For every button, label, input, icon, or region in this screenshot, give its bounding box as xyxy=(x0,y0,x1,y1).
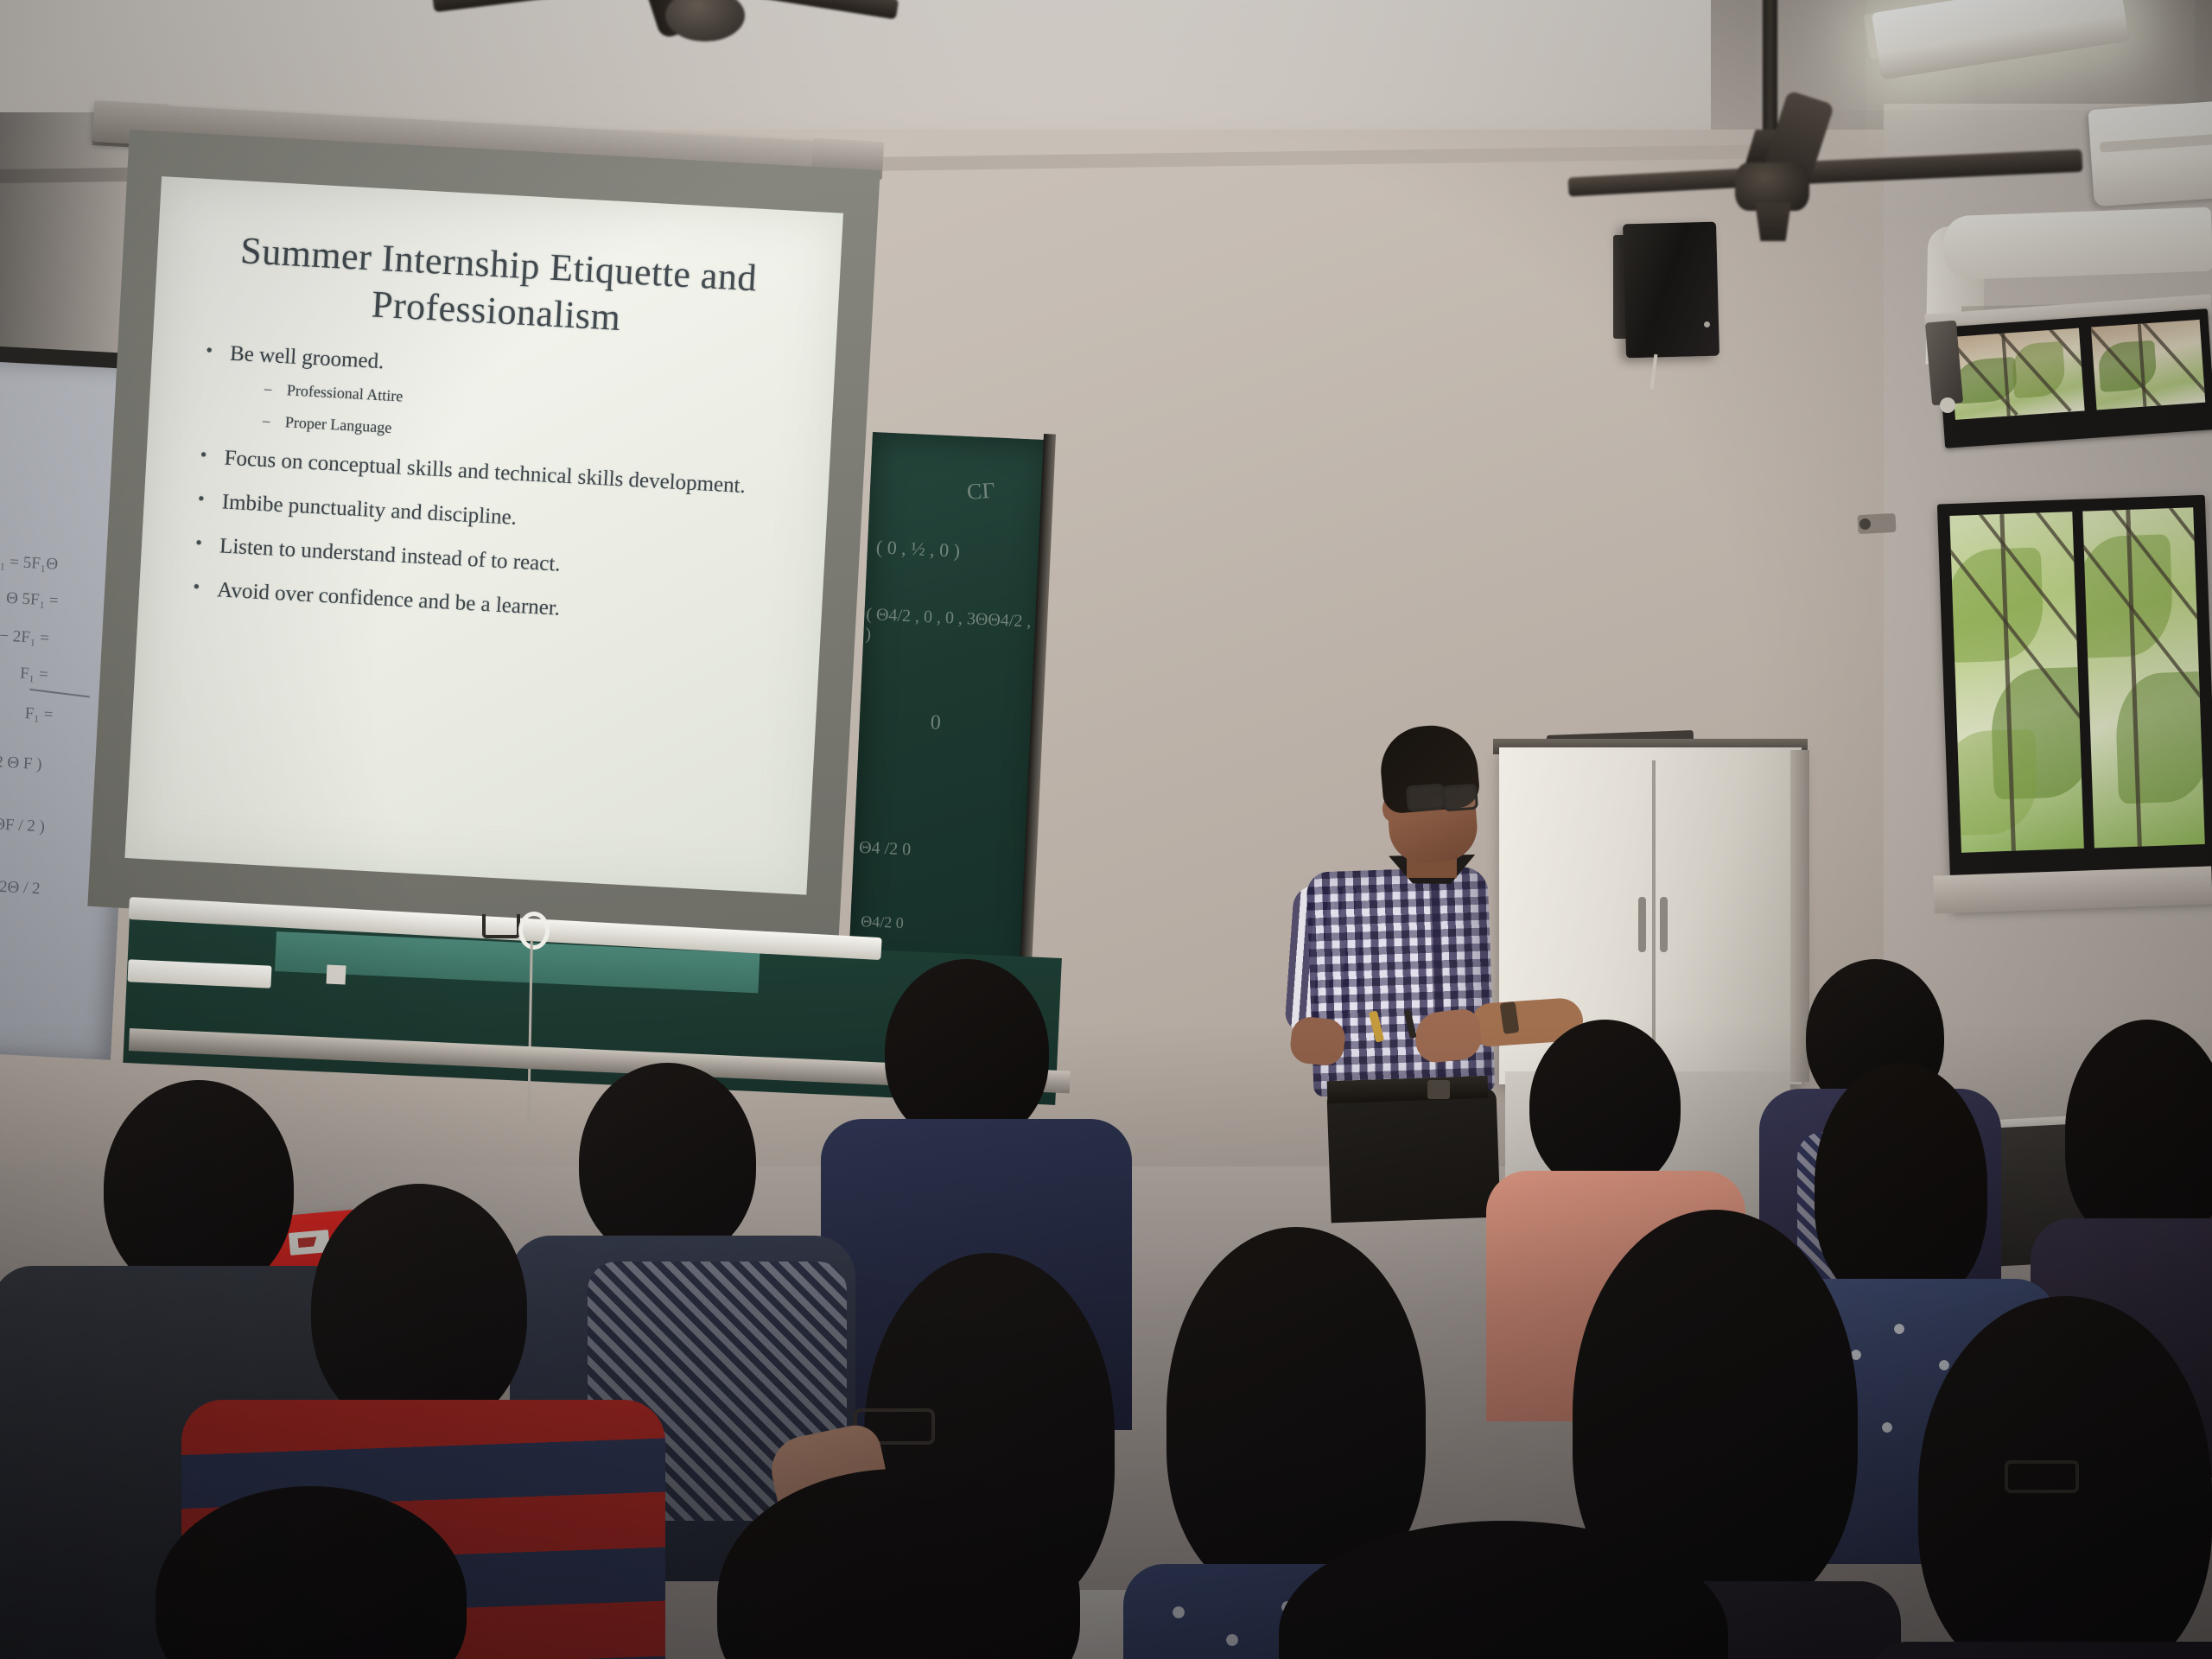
chalkboard-line: ( Θ4/2 , 0 , 0 , 3ΘΘ4/2 , 0 ) xyxy=(865,605,1046,652)
ac-duct-horizontal xyxy=(1943,207,2212,281)
presenter-forearm xyxy=(1288,1015,1346,1067)
fan-hub xyxy=(665,0,745,41)
audience-head xyxy=(579,1063,756,1262)
audience-head xyxy=(311,1184,527,1434)
slide-bullet-list: Be well groomed. Professional Attire Pro… xyxy=(139,338,835,635)
slide-content: Summer Internship Etiquette and Professi… xyxy=(124,176,843,895)
main-window xyxy=(1937,495,2212,911)
fan-blade xyxy=(1797,149,2083,184)
slide-title: Summer Internship Etiquette and Professi… xyxy=(154,176,843,353)
presenter-trousers xyxy=(1326,1088,1500,1224)
chalkboard-line: CΓ xyxy=(966,478,995,505)
presenter-glasses xyxy=(1406,784,1446,812)
chalk-piece[interactable] xyxy=(327,965,346,985)
fan-rod xyxy=(1763,0,1777,137)
speaker-led xyxy=(1704,321,1710,327)
projector-screen: Summer Internship Etiquette and Professi… xyxy=(87,130,880,947)
audience-hair xyxy=(1815,1063,1987,1305)
audience-glasses xyxy=(2005,1460,2079,1493)
fan-boss xyxy=(1751,203,1796,241)
screen-hook-icon[interactable] xyxy=(482,914,520,938)
whiteboard-line: F₁ = xyxy=(24,704,54,725)
wall-speaker-icon xyxy=(1623,222,1719,359)
whiteboard-line: × ( 22 ΘF / 2 ) xyxy=(0,813,45,837)
screen-pull-ring[interactable] xyxy=(518,912,550,950)
whiteboard-line: 3F₁ = 5F₁Θ xyxy=(0,551,59,575)
projection-surface: Summer Internship Etiquette and Professi… xyxy=(124,176,843,895)
whiteboard-line: 3F₁ Θ 5F₁ = xyxy=(0,588,59,611)
chalkboard-line: 0 xyxy=(930,711,941,735)
slide-bullet: Be well groomed. Professional Attire Pro… xyxy=(200,340,809,459)
window-pane xyxy=(1949,512,2084,853)
slide-sub-list: Professional Attire Proper Language xyxy=(226,378,807,460)
audience-body xyxy=(1866,1642,2212,1659)
window-pane xyxy=(2091,320,2205,410)
cupboard-handle[interactable] xyxy=(1660,897,1668,952)
ceiling-fan-icon xyxy=(527,0,890,78)
audience-head xyxy=(885,959,1049,1145)
whiteboard-line: × ( A/2 Θ F ) xyxy=(0,751,42,774)
presenter-glasses xyxy=(1442,784,1478,812)
chalkboard-line: Θ4 /2 0 xyxy=(859,838,912,861)
slide-bullet-text: Be well groomed. xyxy=(229,342,385,374)
cupboard-door-seam xyxy=(1652,760,1656,1080)
window-knob[interactable] xyxy=(1940,397,1955,413)
cupboard-handle[interactable] xyxy=(1638,897,1646,952)
window-pane xyxy=(1949,328,2084,420)
audience-head xyxy=(104,1080,294,1296)
presenter-belt-buckle xyxy=(1427,1080,1450,1099)
classroom-photo: 3F₁ = 5F₁Θ 3F₁ Θ 5F₁ = − 2F₁ = F₁ = F₁ =… xyxy=(0,0,2212,1659)
chalkboard-line: ( 0 , ½ , 0 ) xyxy=(875,536,960,562)
chalkboard-line: Θ4/2 0 xyxy=(861,912,904,932)
whiteboard-line: F₁ = xyxy=(20,664,49,685)
whiteboard-line: − 2F₁ = xyxy=(0,626,49,648)
presenter-glasses-bridge xyxy=(1439,791,1446,794)
ventilator-window xyxy=(1936,308,2212,448)
whiteboard-line: Θ F₁ Θ 2Θ / 2 xyxy=(0,875,41,899)
audience-head xyxy=(1529,1020,1681,1192)
audience-hair xyxy=(2065,1020,2212,1244)
sensor-lens xyxy=(1859,518,1871,530)
window-pane xyxy=(2082,507,2205,848)
